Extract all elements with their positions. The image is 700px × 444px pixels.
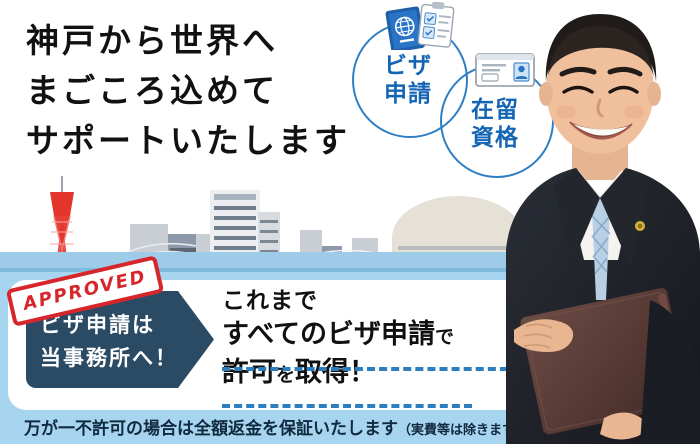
headline-line-1: 神戸から世界へ: [26, 16, 406, 66]
visa-service-banner: 神戸から世界へ まごころ込めて サポートいたします ビザ 申請 在留 資格: [0, 0, 700, 444]
refund-note-main: 万が一不許可の場合は全額返金を保証いたします: [24, 419, 398, 439]
underline-dash-2: [222, 404, 472, 408]
promise-line-3-tail: 取得！: [295, 357, 376, 388]
headline-line-2: まごころ込めて: [26, 66, 406, 116]
businessman-photo: [500, 0, 700, 444]
promise-line-2-main: すべてのビザ申請: [222, 319, 435, 350]
callout-text: ビザ申請は 当事務所へ！: [40, 309, 200, 375]
underline-dash-1: [222, 367, 520, 371]
headline-line-3: サポートいたします: [26, 116, 406, 166]
promise-line-3-main: 許可: [222, 357, 276, 388]
callout-line-2: 当事務所へ！: [40, 342, 200, 375]
promise-line-2-suffix: で: [435, 326, 454, 348]
page-title: 神戸から世界へ まごころ込めて サポートいたします: [26, 16, 406, 166]
